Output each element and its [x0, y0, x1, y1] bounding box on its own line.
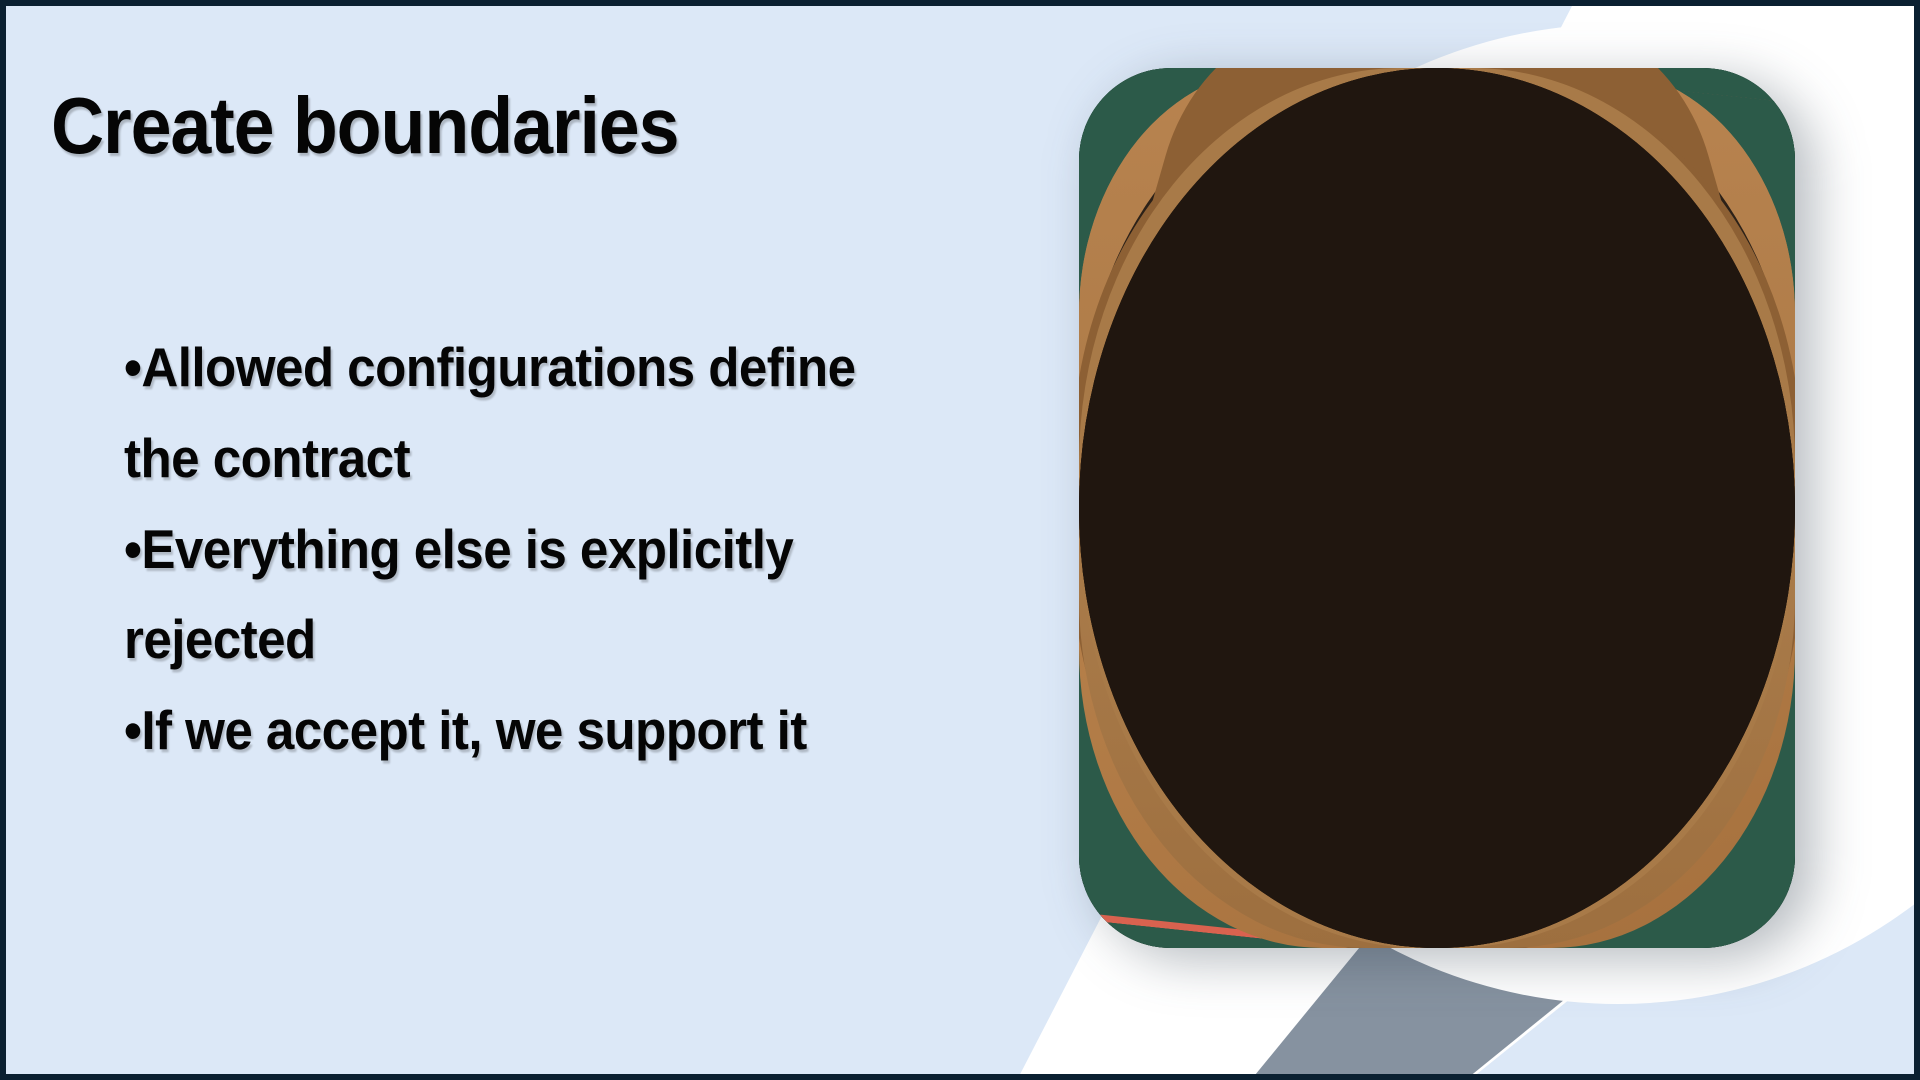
bullet-item: •Allowed configurations define the contr…	[124, 322, 859, 504]
slide-canvas: Create boundaries •Allowed configuration…	[0, 0, 1920, 1080]
dog-photo	[1079, 68, 1795, 948]
bullet-item: •Everything else is explicitly rejected	[124, 504, 859, 686]
bullet-item: •If we accept it, we support it	[124, 685, 859, 776]
slide-title: Create boundaries	[51, 84, 678, 168]
bullet-list: •Allowed configurations define the contr…	[124, 322, 914, 776]
photo-dog-nose	[1079, 68, 1795, 948]
